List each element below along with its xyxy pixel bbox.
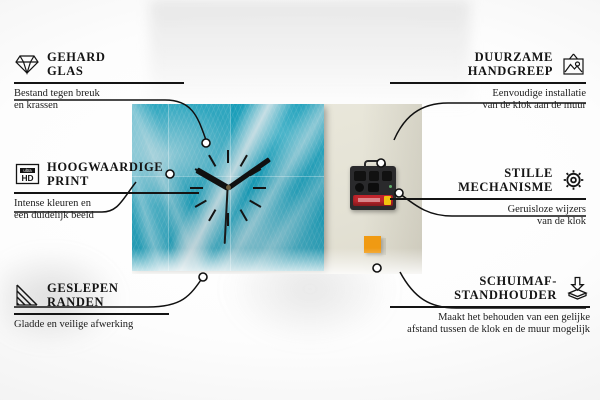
mechanism-detail-5 — [368, 183, 379, 192]
feature-subtitle: Eenvoudige installatievan de klok aan de… — [390, 88, 586, 113]
battery — [353, 195, 393, 206]
feature-heading-row: DUURZAMEHANDGREEP — [390, 50, 586, 78]
feature-divider — [14, 313, 169, 315]
feature-divider — [390, 198, 586, 200]
feature-divider — [14, 192, 199, 194]
svg-text:HD: HD — [21, 173, 33, 183]
feature-subtitle: Bestand tegen breuken krassen — [14, 88, 210, 113]
feature-subtitle: Geruisloze wijzersvan de klok — [390, 204, 586, 229]
feature-schuimafstandhouder[interactable]: SCHUIMAF-STANDHOUDER Maakt het behouden … — [390, 274, 590, 337]
feature-divider — [390, 306, 590, 308]
diamond-icon — [14, 52, 40, 76]
wall-bottom-fade — [132, 248, 422, 274]
bevelled-edges-icon — [14, 283, 40, 307]
feature-stille-mechanisme[interactable]: STILLEMECHANISME Geruisloze wijzersvan d… — [390, 166, 586, 229]
gear-icon — [560, 168, 586, 192]
feature-title: STILLEMECHANISME — [458, 166, 553, 194]
feature-subtitle: Maakt het behouden van een gelijkeafstan… — [390, 312, 590, 337]
ultra-hd-icon: ultra HD — [14, 162, 40, 186]
infographic-canvas: GEHARDGLAS Bestand tegen breuken krassen… — [0, 0, 600, 400]
feature-subtitle: Intense kleuren eneen duidelijk beeld — [14, 198, 210, 223]
feature-divider — [390, 82, 586, 84]
feature-heading-row: GESLEPENRANDEN — [14, 281, 210, 309]
feature-title: SCHUIMAF-STANDHOUDER — [454, 274, 557, 302]
feature-title: HOOGWAARDIGEPRINT — [47, 160, 163, 188]
feature-gehard-glas[interactable]: GEHARDGLAS Bestand tegen breuken krassen — [14, 50, 210, 113]
spacer-stack-icon — [564, 276, 590, 300]
mechanism-detail-4 — [355, 183, 364, 192]
feature-title: GESLEPENRANDEN — [47, 281, 119, 309]
feature-heading-row: STILLEMECHANISME — [390, 166, 586, 194]
clock-center-pin — [226, 185, 231, 190]
picture-frame-icon — [560, 52, 586, 76]
feature-geslepen-randen[interactable]: GESLEPENRANDEN Gladde en veilige afwerki… — [14, 281, 210, 331]
feature-title: GEHARDGLAS — [47, 50, 105, 78]
feature-heading-row: ultra HD HOOGWAARDIGEPRINT — [14, 160, 210, 188]
feature-title: DUURZAMEHANDGREEP — [468, 50, 553, 78]
feature-hoogwaardige-print[interactable]: ultra HD HOOGWAARDIGEPRINT Intense kleur… — [14, 160, 210, 223]
feature-heading-row: GEHARDGLAS — [14, 50, 210, 78]
mechanism-detail-1 — [354, 171, 366, 181]
feature-heading-row: SCHUIMAF-STANDHOUDER — [390, 274, 590, 302]
feature-duurzame-handgreep[interactable]: DUURZAMEHANDGREEP Eenvoudige installatie… — [390, 50, 586, 113]
battery-label — [358, 198, 380, 202]
mechanism-detail-2 — [369, 171, 379, 181]
feature-divider — [14, 82, 184, 84]
feature-subtitle: Gladde en veilige afwerking — [14, 319, 210, 332]
